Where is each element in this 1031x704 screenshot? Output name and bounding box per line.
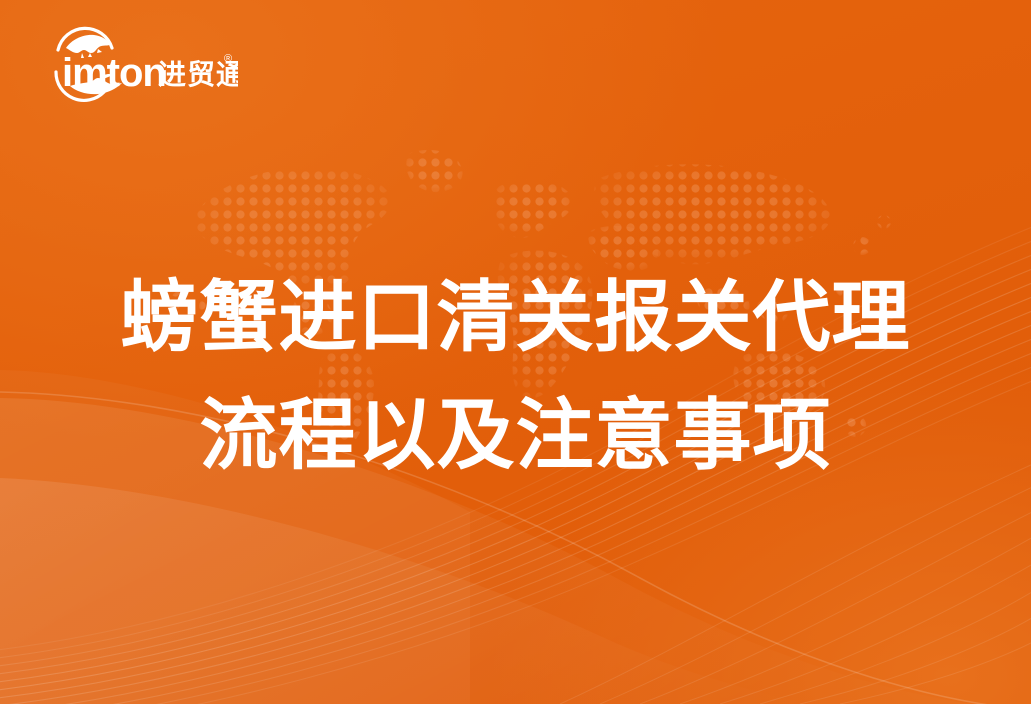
logo-wordmark: imton bbox=[62, 51, 166, 95]
page-title: 螃蟹进口清关报关代理 流程以及注意事项 bbox=[0, 258, 1031, 494]
title-line-1: 螃蟹进口清关报关代理 bbox=[0, 258, 1031, 376]
banner-poster: imton 进贸通 ® 螃蟹进口清关报关代理 流程以及注意事项 bbox=[0, 0, 1031, 704]
brand-logo[interactable]: imton 进贸通 ® bbox=[38, 22, 238, 108]
title-line-2: 流程以及注意事项 bbox=[0, 376, 1031, 494]
trademark-symbol: ® bbox=[224, 53, 232, 65]
